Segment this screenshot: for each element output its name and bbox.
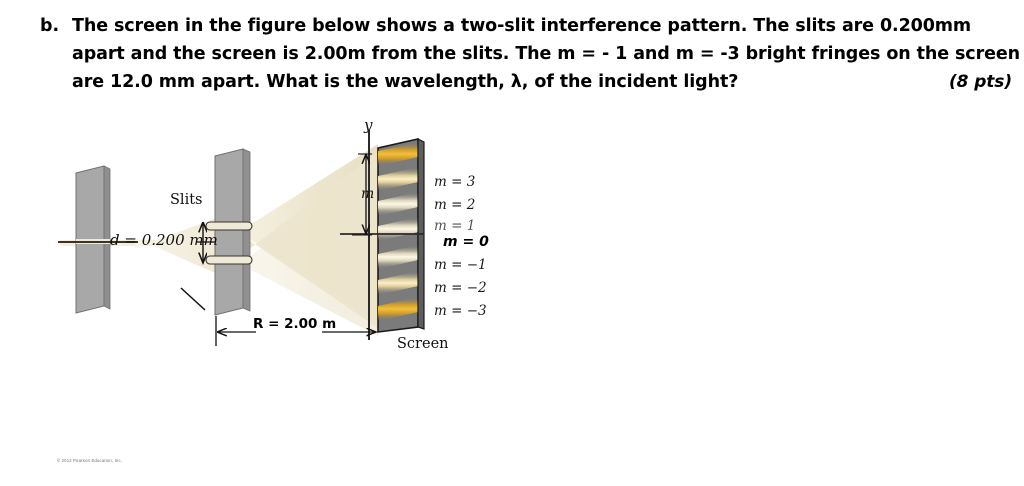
fringe-label-m-3: m = −3 [434,303,487,319]
slits-leader-line [181,288,205,310]
two-slit-interference-figure: y Slits d = 0.200 mm R = 2.00 m Screen m… [0,108,1024,383]
question-text: The screen in the figure below shows a t… [72,12,1020,96]
question-line-3: are 12.0 mm apart. What is the wavelengt… [72,68,1020,96]
slit-separation-label: d = 0.200 mm [110,231,218,249]
fringe-label-m-1: m = −1 [434,257,487,273]
diffracted-beams [232,144,378,336]
question-line-3-text: are 12.0 mm apart. What is the wavelengt… [72,72,738,92]
fringe-label-m1: m = 1 [434,218,475,234]
fringe-label-m3: m = 3 [434,174,475,190]
fringe-spacing-label: m [361,186,374,202]
fringe-label-m0: m = 0 [443,234,489,250]
question-points: (8 pts) [949,68,1012,96]
copyright-notice: © 2012 Pearson Education, Inc. [57,458,122,463]
screen-distance-label: R = 2.00 m [253,316,336,332]
fringe-label-m-2: m = −2 [434,280,487,296]
screen-panel [378,139,424,332]
slits-label: Slits [170,192,202,208]
question-block: b. The screen in the figure below shows … [40,12,995,96]
question-line-2: apart and the screen is 2.00m from the s… [72,40,1020,68]
y-axis-label: y [364,116,372,134]
left-barrier-plate [76,166,110,313]
question-line-1: The screen in the figure below shows a t… [72,12,1020,40]
question-item-label: b. [40,12,72,40]
screen-label: Screen [397,336,449,352]
fringe-label-m2: m = 2 [434,197,475,213]
question-row-1: b. The screen in the figure below shows … [40,12,995,96]
